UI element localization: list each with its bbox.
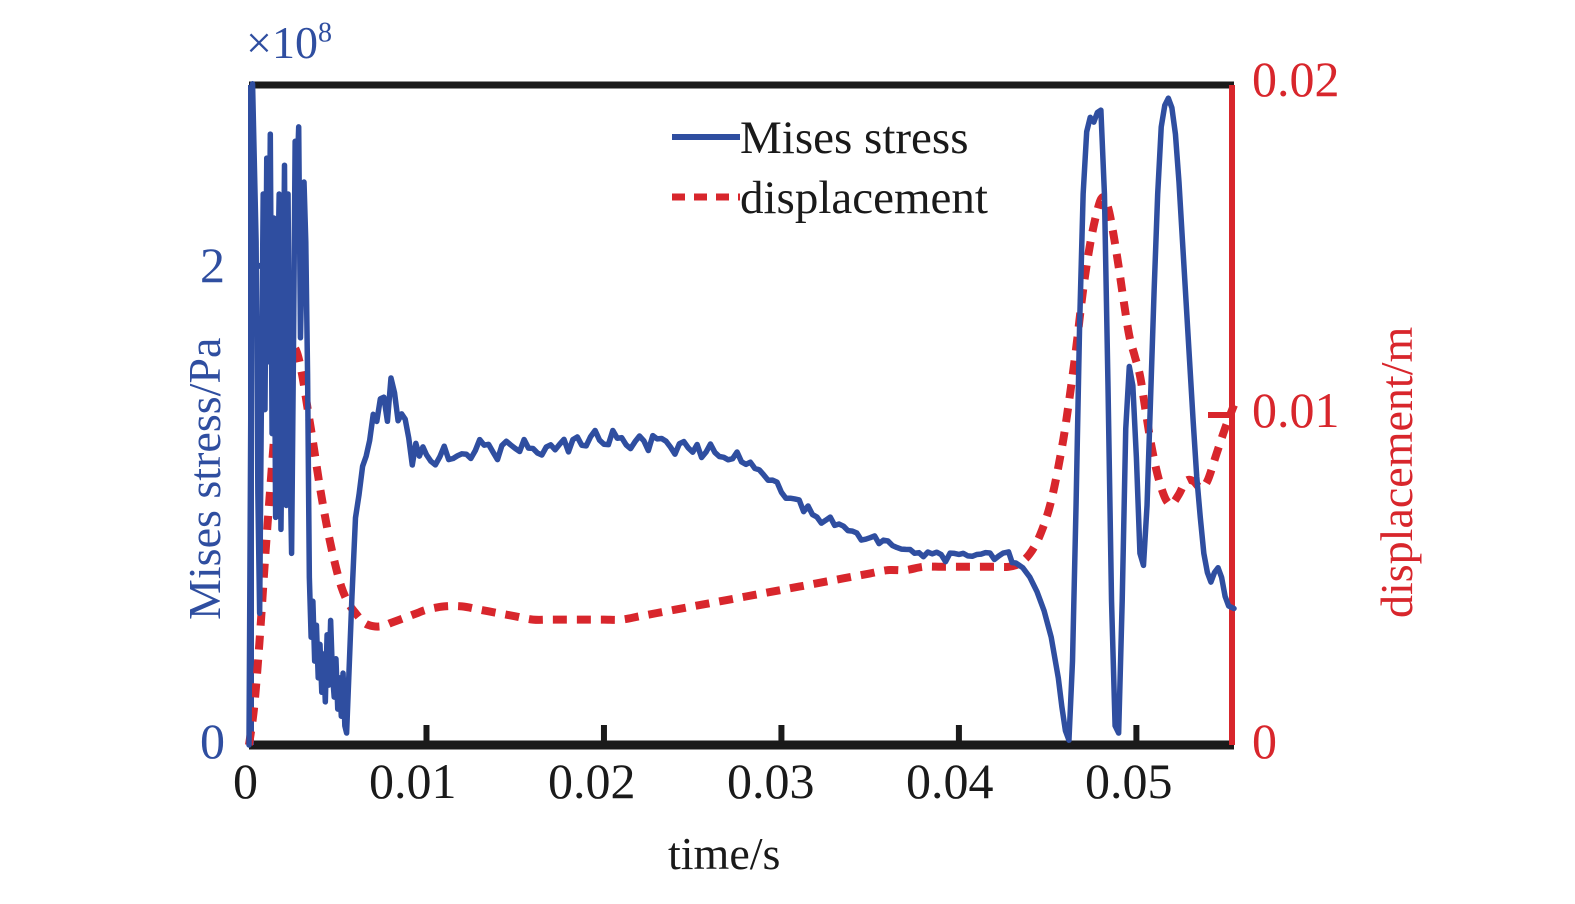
plot-svg [0,0,1575,904]
axis-ticks [251,266,1232,745]
series-line-mises-stress [249,84,1234,745]
chart-figure: ×108 2 0 Mises stress/Pa 0.02 0.01 0 dis… [0,0,1575,904]
legend-samples [672,137,740,197]
series-line-displacement [249,197,1234,745]
